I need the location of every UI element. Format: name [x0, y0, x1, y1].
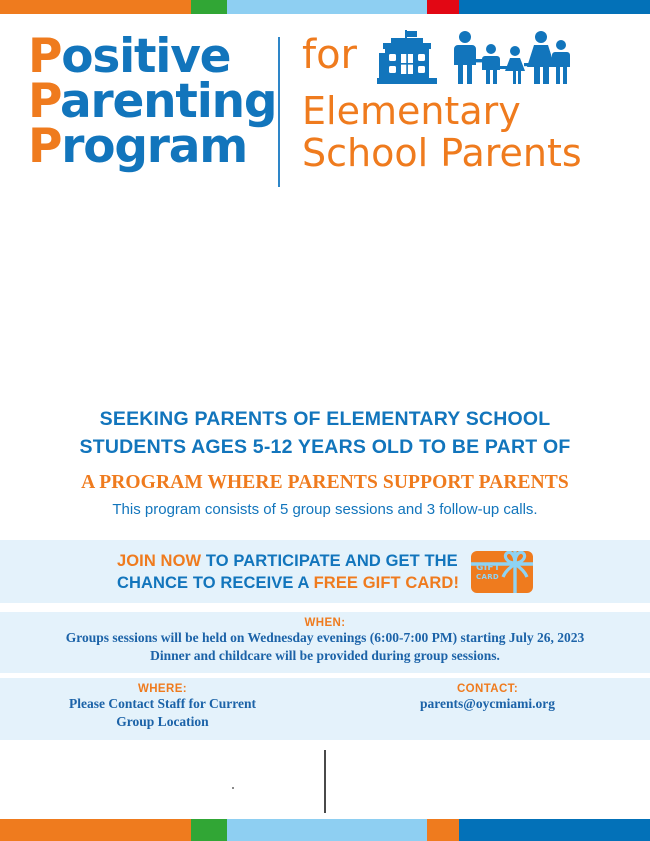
subtitle-line-2: School Parents [302, 132, 582, 174]
join-line-2: CHANCE TO RECEIVE A FREE GIFT CARD! [117, 572, 459, 594]
school-building-icon [371, 30, 443, 91]
ppp-wordmark: Positive Parenting Program [0, 34, 278, 169]
support-headline: A PROGRAM WHERE PARENTS SUPPORT PARENTS [0, 472, 650, 494]
top-bar-segment-dark-blue [459, 0, 650, 14]
join-now-highlight: JOIN NOW [117, 552, 201, 570]
for-label: for [302, 34, 357, 76]
ppp-line-parenting: Parenting [28, 79, 278, 124]
top-bar-segment-green [191, 0, 227, 14]
logo-icon-group [371, 30, 573, 91]
contact-email[interactable]: parents@oycmiami.org [325, 695, 650, 713]
footer-vertical-rule [324, 750, 326, 813]
bottom-color-bar [0, 819, 650, 841]
program-description: This program consists of 5 group session… [0, 500, 650, 520]
bottom-bar-segment-light-blue [227, 819, 427, 841]
when-section: WHEN: Groups sessions will be held on We… [0, 612, 650, 673]
seeking-line-1: SEEKING PARENTS OF ELEMENTARY SCHOOL [0, 405, 650, 433]
for-row: for [302, 34, 582, 90]
join-now-banner: JOIN NOW TO PARTICIPATE AND GET THE CHAN… [0, 540, 650, 603]
flyer-page: Positive Parenting Program for [0, 0, 650, 841]
ppp-initial-3: P [28, 119, 61, 174]
contact-column: CONTACT: parents@oycmiami.org [325, 678, 650, 740]
free-gift-card-highlight: FREE GIFT CARD! [314, 574, 459, 592]
gift-card-line-2: CARD [476, 573, 500, 582]
ppp-line-positive: Positive [28, 34, 278, 79]
logo-subtitle-block: for [280, 34, 582, 174]
contact-label: CONTACT: [325, 678, 650, 695]
where-label: WHERE: [0, 678, 325, 695]
where-line-2: Group Location [0, 713, 325, 731]
bottom-bar-segment-dark-blue [459, 819, 650, 841]
seeking-block: SEEKING PARENTS OF ELEMENTARY SCHOOL STU… [0, 405, 650, 520]
when-line-1: Groups sessions will be held on Wednesda… [0, 629, 650, 647]
bottom-bar-segment-green [191, 819, 227, 841]
seeking-line-2: STUDENTS AGES 5-12 YEARS OLD TO BE PART … [0, 433, 650, 461]
join-now-text: JOIN NOW TO PARTICIPATE AND GET THE CHAN… [117, 550, 459, 594]
top-color-bar [0, 0, 650, 14]
join-line-1-rest: TO PARTICIPATE AND GET THE [201, 552, 458, 570]
gift-card-label: GIFT CARD [476, 564, 500, 582]
join-line-2-plain: CHANCE TO RECEIVE A [117, 574, 314, 592]
gift-card-icon: GIFT CARD [471, 551, 533, 593]
when-label: WHEN: [0, 612, 650, 629]
family-group-icon [451, 30, 573, 91]
top-bar-segment-red [427, 0, 459, 14]
where-line-1: Please Contact Staff for Current [0, 695, 325, 713]
ppp-word-3: rogram [61, 119, 247, 174]
top-bar-segment-light-blue [227, 0, 427, 14]
join-line-1: JOIN NOW TO PARTICIPATE AND GET THE [117, 550, 459, 572]
where-column: WHERE: Please Contact Staff for Current … [0, 678, 325, 740]
bottom-bar-segment-orange [0, 819, 191, 841]
bottom-bar-segment-orange-2 [427, 819, 459, 841]
program-logo: Positive Parenting Program for [0, 34, 650, 204]
where-contact-section: WHERE: Please Contact Staff for Current … [0, 678, 650, 740]
when-line-2: Dinner and childcare will be provided du… [0, 647, 650, 665]
footer-dot-mark [232, 787, 234, 789]
ppp-line-program: Program [28, 124, 278, 169]
top-bar-segment-orange [0, 0, 191, 14]
gift-card-line-1: GIFT [476, 564, 500, 573]
subtitle-line-1: Elementary [302, 90, 582, 132]
